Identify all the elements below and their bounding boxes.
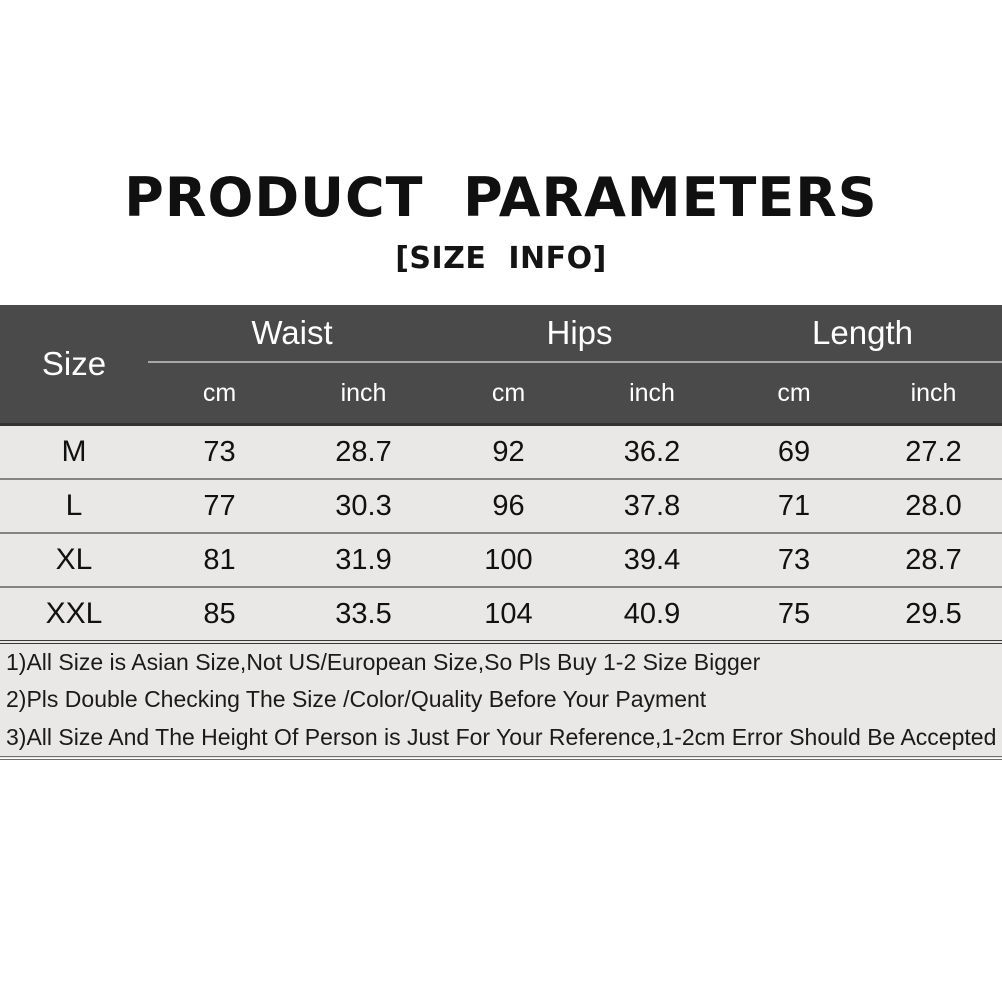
column-header-hips-cm: cm [436,362,581,425]
table-row: L 77 30.3 96 37.8 71 28.0 [0,479,1002,533]
note-item: 3)All Size And The Height Of Person is J… [0,719,1002,756]
column-header-waist-cm: cm [148,362,291,425]
notes-row: 1)All Size is Asian Size,Not US/European… [0,642,1002,758]
cell-length-inch: 28.0 [865,479,1002,533]
column-header-hips-inch: inch [581,362,723,425]
cell-waist-cm: 73 [148,425,291,480]
size-info-table: Size Waist Hips Length cm inch cm inch c… [0,305,1002,760]
cell-hips-cm: 100 [436,533,581,587]
cell-size: XL [0,533,148,587]
cell-size: L [0,479,148,533]
page-title: PRODUCT PARAMETERS [0,170,1002,227]
column-group-length: Length [723,305,1002,362]
column-header-length-cm: cm [723,362,865,425]
column-header-length-inch: inch [865,362,1002,425]
table-row: XL 81 31.9 100 39.4 73 28.7 [0,533,1002,587]
title-block: PRODUCT PARAMETERS [SIZE INFO] [0,170,1002,276]
cell-hips-inch: 36.2 [581,425,723,480]
cell-length-inch: 28.7 [865,533,1002,587]
cell-hips-inch: 39.4 [581,533,723,587]
cell-waist-cm: 85 [148,587,291,642]
size-chart-page: PRODUCT PARAMETERS [SIZE INFO] Size Wais… [0,0,1002,1002]
cell-hips-cm: 92 [436,425,581,480]
cell-waist-cm: 77 [148,479,291,533]
cell-hips-cm: 96 [436,479,581,533]
table-body: M 73 28.7 92 36.2 69 27.2 L 77 30.3 96 3… [0,425,1002,758]
notes-section: 1)All Size is Asian Size,Not US/European… [0,642,1002,758]
cell-length-cm: 71 [723,479,865,533]
header-unit-row: cm inch cm inch cm inch [0,362,1002,425]
note-item: 1)All Size is Asian Size,Not US/European… [0,644,1002,681]
cell-waist-inch: 31.9 [291,533,436,587]
cell-hips-inch: 40.9 [581,587,723,642]
cell-length-cm: 69 [723,425,865,480]
cell-waist-cm: 81 [148,533,291,587]
column-group-hips: Hips [436,305,723,362]
cell-waist-inch: 30.3 [291,479,436,533]
cell-size: M [0,425,148,480]
header-group-row: Size Waist Hips Length [0,305,1002,362]
cell-size: XXL [0,587,148,642]
table-row: M 73 28.7 92 36.2 69 27.2 [0,425,1002,480]
note-item: 2)Pls Double Checking The Size /Color/Qu… [0,681,1002,718]
cell-hips-cm: 104 [436,587,581,642]
cell-length-cm: 75 [723,587,865,642]
column-group-waist: Waist [148,305,436,362]
table-header: Size Waist Hips Length cm inch cm inch c… [0,305,1002,425]
column-header-waist-inch: inch [291,362,436,425]
column-header-size: Size [0,305,148,425]
cell-length-cm: 73 [723,533,865,587]
cell-hips-inch: 37.8 [581,479,723,533]
cell-waist-inch: 33.5 [291,587,436,642]
table-row: XXL 85 33.5 104 40.9 75 29.5 [0,587,1002,642]
cell-length-inch: 27.2 [865,425,1002,480]
page-subtitle: [SIZE INFO] [0,241,1002,276]
cell-length-inch: 29.5 [865,587,1002,642]
cell-waist-inch: 28.7 [291,425,436,480]
